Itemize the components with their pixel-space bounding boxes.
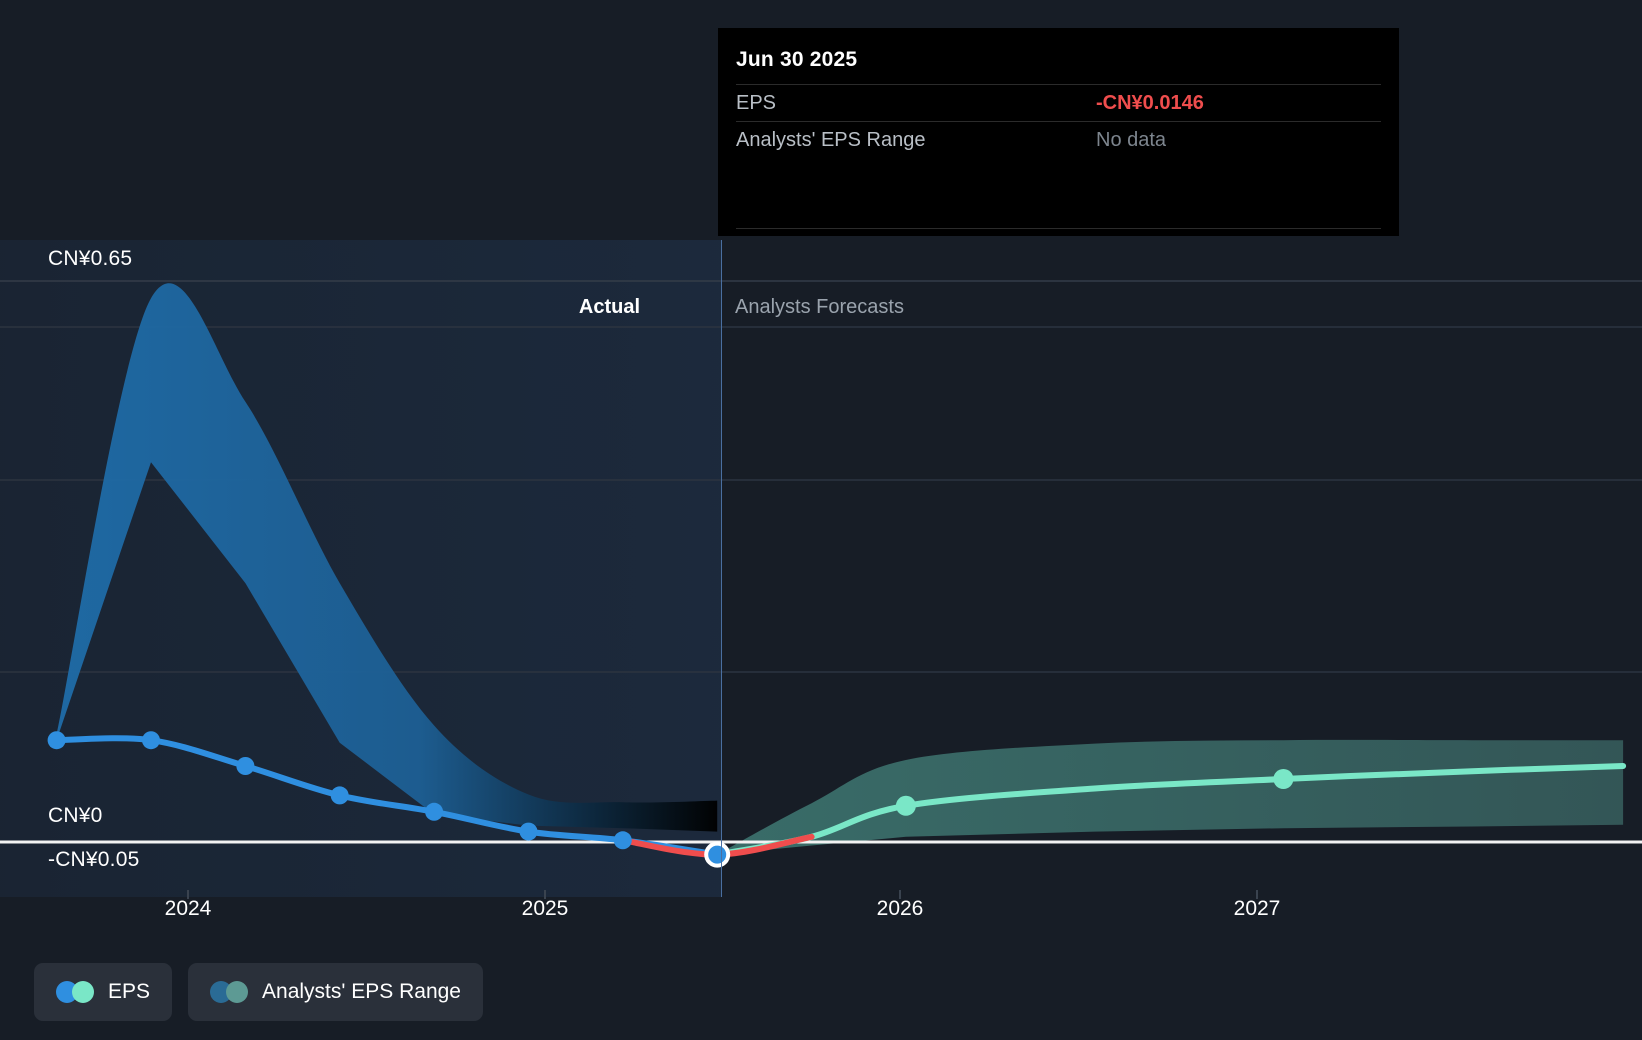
y-axis-label-min: -CN¥0.05 <box>48 848 139 872</box>
y-axis-label-zero: CN¥0 <box>48 804 103 828</box>
tooltip-spacer <box>736 158 1381 228</box>
tooltip-label-range: Analysts' EPS Range <box>736 129 1096 152</box>
tooltip-label-eps: EPS <box>736 92 1096 115</box>
eps-forecast-point[interactable] <box>896 796 916 816</box>
eps-forecast-chart: Actual Analysts Forecasts CN¥0.65 CN¥0 -… <box>0 0 1642 1040</box>
x-axis-label-2024: 2024 <box>165 897 212 921</box>
eps-point[interactable] <box>520 823 538 841</box>
tooltip-value-range: No data <box>1096 129 1166 152</box>
eps-point[interactable] <box>331 786 349 804</box>
chart-tooltip: Jun 30 2025 EPS -CN¥0.0146 Analysts' EPS… <box>718 28 1399 236</box>
tooltip-footer-rule <box>736 228 1381 230</box>
eps-point[interactable] <box>425 803 443 821</box>
x-axis-label-2026: 2026 <box>877 897 924 921</box>
eps-point[interactable] <box>142 731 160 749</box>
selected-data-point[interactable] <box>706 844 728 866</box>
eps-forecast-point[interactable] <box>1273 769 1293 789</box>
phase-label-actual: Actual <box>579 296 640 319</box>
legend-item-analysts-range[interactable]: Analysts' EPS Range <box>188 963 483 1021</box>
legend-swatch-eps <box>56 981 94 1003</box>
eps-point[interactable] <box>236 757 254 775</box>
x-axis-label-2025: 2025 <box>522 897 569 921</box>
legend-label-eps: EPS <box>108 980 150 1004</box>
phase-label-forecast: Analysts Forecasts <box>735 296 904 319</box>
tooltip-date: Jun 30 2025 <box>736 28 1381 84</box>
eps-point[interactable] <box>48 731 66 749</box>
chart-legend: EPS Analysts' EPS Range <box>34 963 483 1021</box>
forecast-divider <box>721 240 722 897</box>
analyst-range-band-forecast <box>717 740 1623 855</box>
legend-label-analysts-range: Analysts' EPS Range <box>262 980 461 1004</box>
legend-swatch-analysts-range <box>210 981 248 1003</box>
x-axis-label-2027: 2027 <box>1234 897 1281 921</box>
eps-point[interactable] <box>614 831 632 849</box>
y-axis-label-max: CN¥0.65 <box>48 247 132 271</box>
tooltip-row-eps: EPS -CN¥0.0146 <box>736 84 1381 121</box>
tooltip-row-range: Analysts' EPS Range No data <box>736 121 1381 158</box>
tooltip-value-eps: -CN¥0.0146 <box>1096 92 1204 115</box>
legend-item-eps[interactable]: EPS <box>34 963 172 1021</box>
